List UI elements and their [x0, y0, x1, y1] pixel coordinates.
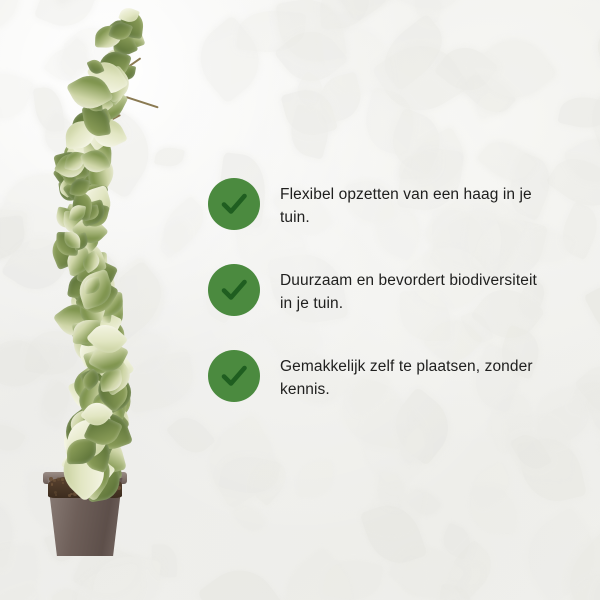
- list-item: Duurzaam en bevordert biodiversiteit in …: [208, 264, 578, 316]
- ivy-plant: [30, 10, 220, 590]
- feature-bullet-list: Flexibel opzetten van een haag in je tui…: [208, 178, 578, 436]
- check-icon: [208, 350, 260, 402]
- list-item-label: Duurzaam en bevordert biodiversiteit in …: [280, 264, 548, 316]
- list-item: Flexibel opzetten van een haag in je tui…: [208, 178, 578, 230]
- list-item-label: Flexibel opzetten van een haag in je tui…: [280, 178, 548, 230]
- product-feature-image: Flexibel opzetten van een haag in je tui…: [0, 0, 600, 600]
- list-item-label: Gemakkelijk zelf te plaatsen, zonder ken…: [280, 350, 548, 402]
- check-icon: [208, 178, 260, 230]
- check-icon: [208, 264, 260, 316]
- list-item: Gemakkelijk zelf te plaatsen, zonder ken…: [208, 350, 578, 402]
